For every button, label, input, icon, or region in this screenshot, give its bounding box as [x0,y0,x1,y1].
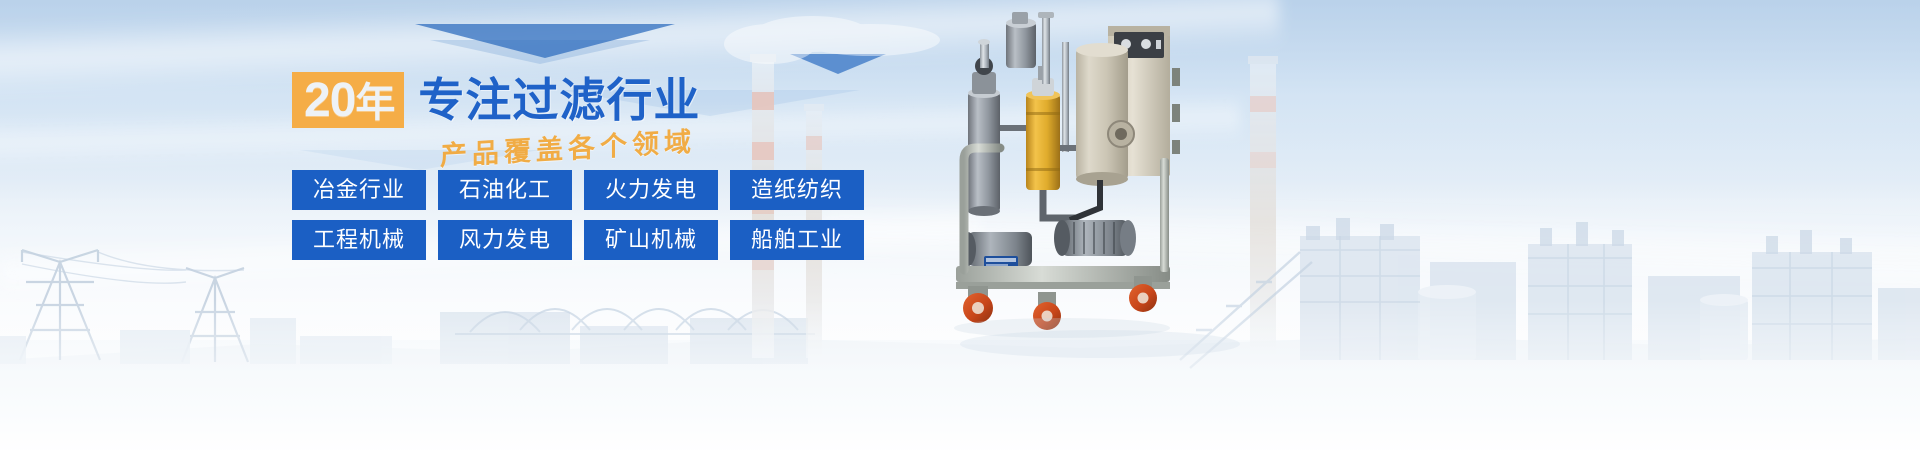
years-number: 20 [304,74,355,127]
industry-tag-thermal-power[interactable]: 火力发电 [584,170,718,210]
chevron-decoration-small [790,54,886,74]
industry-tag-shipbuilding[interactable]: 船舶工业 [730,220,864,260]
industry-tag-group: 冶金行业 石油化工 火力发电 造纸纺织 工程机械 风力发电 矿山机械 船舶工业 [292,170,876,270]
industry-tag-metallurgy[interactable]: 冶金行业 [292,170,426,210]
chevron-decoration-shadow [430,40,650,64]
headline-block: 20年 专注过滤行业 产品覆盖各个领域 [292,72,912,173]
caster-wheel [963,286,993,323]
industry-tag-wind-power[interactable]: 风力发电 [438,220,572,260]
years-unit: 年 [355,81,394,125]
industry-tag-mining-machinery[interactable]: 矿山机械 [584,220,718,260]
industry-tag-paper-textile[interactable]: 造纸纺织 [730,170,864,210]
industry-tag-petrochemical[interactable]: 石油化工 [438,170,572,210]
industry-tag-row: 冶金行业 石油化工 火力发电 造纸纺织 [292,170,876,210]
years-badge: 20年 [292,72,404,128]
sky-gradient-lower [0,320,1920,450]
promo-banner: 20年 专注过滤行业 产品覆盖各个领域 冶金行业 石油化工 火力发电 造纸纺织 … [0,0,1920,450]
headline-text: 专注过滤行业 [418,72,700,128]
industry-tag-construction-machinery[interactable]: 工程机械 [292,220,426,260]
filtration-machine-image [950,8,1240,338]
chevron-decoration-large [415,24,675,58]
industry-tag-row: 工程机械 风力发电 矿山机械 船舶工业 [292,220,876,260]
